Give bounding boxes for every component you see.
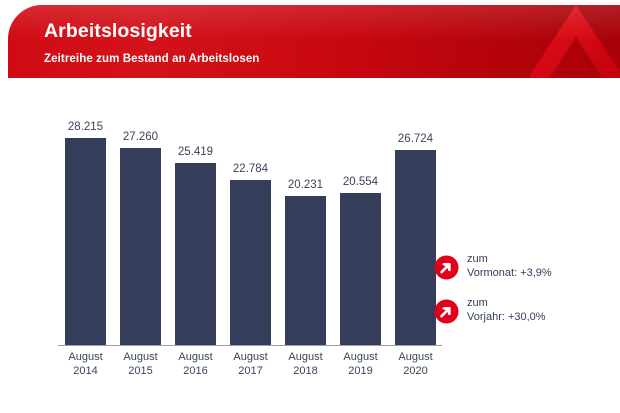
page-subtitle: Zeitreihe zum Bestand an Arbeitslosen <box>44 53 259 65</box>
legend-line-2: Vormonat: +3,9% <box>467 267 552 281</box>
bar-group: 20.554 <box>333 100 388 345</box>
legend-line-1: zum <box>467 297 546 311</box>
arrow-up-right-icon <box>434 299 459 324</box>
x-tick-month: August <box>123 351 157 363</box>
bar-value-label: 22.784 <box>223 163 278 175</box>
x-tick-year: 2019 <box>348 365 372 377</box>
x-tick-year: 2017 <box>238 365 262 377</box>
x-tick-label: August 2017 <box>223 350 278 378</box>
bar-group: 28.215 <box>58 100 113 345</box>
x-tick-label: August 2015 <box>113 350 168 378</box>
bar-value-label: 27.260 <box>113 131 168 143</box>
x-tick-label: August 2018 <box>278 350 333 378</box>
ba-logo-a-icon <box>530 5 620 78</box>
bar[interactable] <box>65 138 106 345</box>
legend-line-1: zum <box>467 253 552 267</box>
x-tick-year: 2014 <box>73 365 97 377</box>
bar-group: 22.784 <box>223 100 278 345</box>
x-tick-month: August <box>178 351 212 363</box>
legend: zum Vormonat: +3,9% zum Vorjahr: +30,0% <box>434 253 614 341</box>
bar-group: 20.231 <box>278 100 333 345</box>
x-tick-month: August <box>343 351 377 363</box>
arrow-up-right-icon <box>434 255 459 280</box>
bar-value-label: 20.554 <box>333 176 388 188</box>
bar-plot: 28.215 27.260 25.419 22.784 20.231 20.55… <box>58 100 440 345</box>
x-axis-line <box>58 345 442 346</box>
legend-text: zum Vormonat: +3,9% <box>467 253 552 280</box>
legend-text: zum Vorjahr: +30,0% <box>467 297 546 324</box>
page-title: Arbeitslosigkeit <box>44 20 192 43</box>
bar-group: 25.419 <box>168 100 223 345</box>
bar-value-label: 26.724 <box>388 133 443 145</box>
x-tick-year: 2020 <box>403 365 427 377</box>
legend-item-vorjahr: zum Vorjahr: +30,0% <box>434 297 614 341</box>
x-tick-month: August <box>288 351 322 363</box>
x-tick-label: August 2020 <box>388 350 443 378</box>
bar[interactable] <box>120 148 161 345</box>
x-tick-label: August 2016 <box>168 350 223 378</box>
header-banner: Arbeitslosigkeit Zeitreihe zum Bestand a… <box>8 5 620 78</box>
bar[interactable] <box>340 193 381 345</box>
x-tick-label: August 2019 <box>333 350 388 378</box>
x-tick-month: August <box>68 351 102 363</box>
x-tick-year: 2015 <box>128 365 152 377</box>
bar[interactable] <box>285 196 326 345</box>
x-tick-month: August <box>398 351 432 363</box>
legend-item-vormonat: zum Vormonat: +3,9% <box>434 253 614 297</box>
legend-line-2: Vorjahr: +30,0% <box>467 311 546 325</box>
bar[interactable] <box>175 163 216 345</box>
bar-group: 27.260 <box>113 100 168 345</box>
x-tick-label: August 2014 <box>58 350 113 378</box>
chart-container: 28.215 27.260 25.419 22.784 20.231 20.55… <box>0 78 620 413</box>
bar-value-label: 28.215 <box>58 121 113 133</box>
bar-value-label: 20.231 <box>278 179 333 191</box>
x-tick-year: 2018 <box>293 365 317 377</box>
bar[interactable] <box>230 180 271 345</box>
x-tick-year: 2016 <box>183 365 207 377</box>
bar[interactable] <box>395 150 436 345</box>
x-tick-month: August <box>233 351 267 363</box>
bar-value-label: 25.419 <box>168 146 223 158</box>
